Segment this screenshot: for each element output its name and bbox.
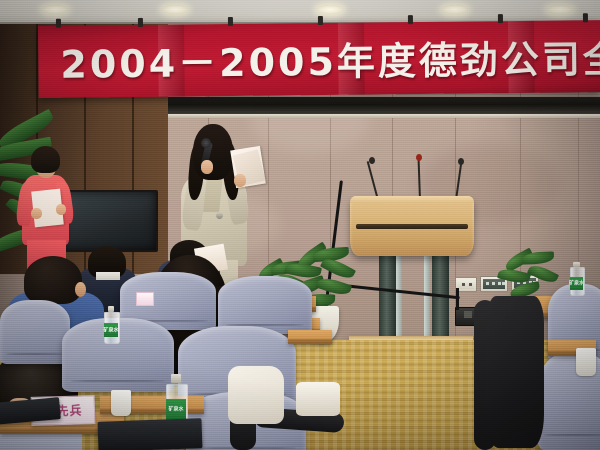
bottle-label: 矿泉水 [104,323,118,337]
chair-tablet-arm[interactable] [288,330,332,344]
banner-title-text: 2004－2005年度德劲公司全国代 [60,24,600,92]
ceiling-downlight [547,5,573,14]
banner-clip [583,13,588,22]
ceiling-downlight [42,5,68,14]
red-dress-woman-hair [31,146,60,173]
screen-housing-trim [168,114,600,118]
banner-clip [138,18,143,27]
red-dress-woman-left-hand [31,208,42,219]
speaker-left-hand [201,160,213,174]
name-card-back-row [136,292,154,306]
bottle-label: 矿泉水 [166,399,186,420]
water-bottle-right[interactable]: 矿泉水 [570,262,583,296]
paper-cup-right[interactable] [576,348,596,376]
paper-cup-front[interactable] [111,390,131,416]
microphone-head-icon [458,158,464,165]
microphone-head-icon [416,154,422,161]
audience-member-1-ear [75,282,86,297]
banner-clip [228,17,233,26]
ceiling-downlight [162,5,188,14]
water-bottle-mid[interactable]: 矿泉水 [104,306,118,344]
conference-hall-photo: 2004－2005年度德劲公司全国代 [0,0,600,450]
audience-member-1-hair [24,256,82,304]
podium-trim-slot [356,224,468,229]
microphone-head-icon [369,157,375,164]
bottle-label: 矿泉水 [570,277,583,290]
ceiling-downlight [317,5,343,14]
laptop-front[interactable] [98,418,203,450]
ceiling-downlight [442,5,468,14]
banner-clip [408,15,413,24]
podium-chrome-bar [396,249,402,341]
podium-post [379,249,396,341]
microphone-head-icon [201,138,211,148]
floor-cable [456,288,459,310]
red-dress-woman-right-hand [56,204,66,215]
speaker-hair-top [193,124,233,180]
black-bag-right[interactable] [486,296,544,448]
audience-member-2-collar [96,272,120,280]
speaker-jacket-button [216,212,223,219]
auditorium-chair[interactable] [0,300,70,364]
podium-desk-top-edge [350,196,474,203]
banner-clip [56,19,61,28]
white-paper-pile [296,382,340,416]
red-event-banner: 2004－2005年度德劲公司全国代 [38,20,600,98]
white-bag-center[interactable] [228,366,284,424]
speaker-right-hand [234,174,246,187]
banner-clip [318,16,323,25]
banner-clip [498,14,503,23]
